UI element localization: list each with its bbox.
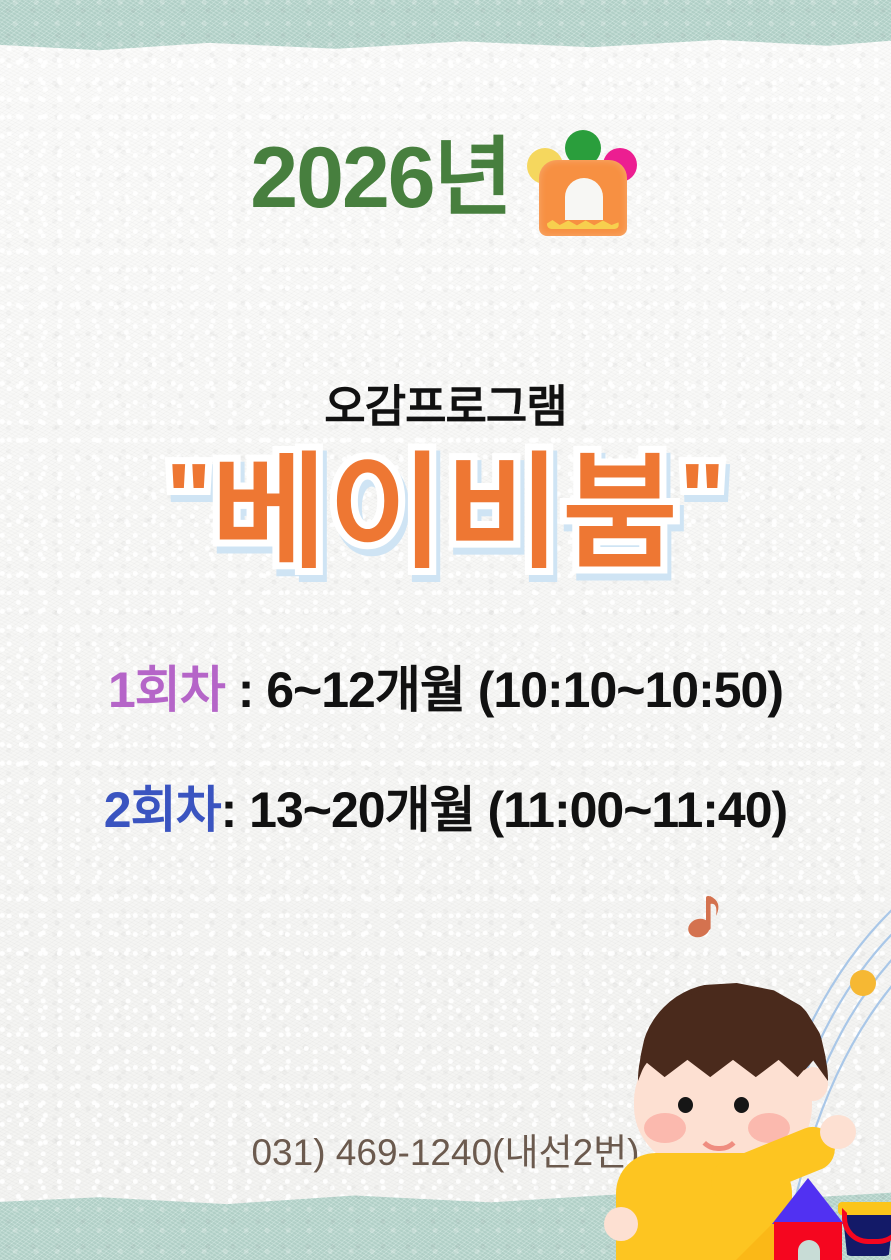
quote-close: "	[680, 444, 726, 551]
toy-blocks-bucket-icon	[742, 1178, 891, 1260]
header-row: 2026년	[0, 120, 891, 236]
year-title: 2026년	[250, 135, 510, 221]
session-2-tag: 2회차	[104, 782, 221, 838]
poster-canvas: 2026년 오감프로그램 "베이비붐" 1회차 : 6~12개월 (10:10~…	[0, 0, 891, 1260]
child-eye-right	[734, 1097, 749, 1113]
hat-arch-cutout	[565, 178, 603, 220]
toy-house-door	[798, 1240, 820, 1260]
session-2-detail: : 13~20개월 (11:00~11:40)	[221, 782, 788, 838]
session-1-tag: 1회차	[108, 662, 225, 718]
music-note-salmon	[686, 896, 719, 940]
child-cheek-left	[644, 1113, 686, 1143]
program-subtitle: 오감프로그램	[0, 370, 891, 435]
program-title-text: 베이비붐	[212, 444, 680, 583]
child-eye-left	[678, 1097, 693, 1113]
program-title: "베이비붐"	[0, 448, 891, 579]
child-hand-left	[604, 1207, 638, 1241]
session-row-1: 1회차 : 6~12개월 (10:10~10:50)	[0, 650, 891, 722]
quote-open: "	[166, 444, 212, 551]
session-1-detail: : 6~12개월 (10:10~10:50)	[225, 662, 783, 718]
child-hand-right	[820, 1115, 856, 1149]
hat-block-icon	[525, 124, 641, 236]
toy-blue-roof	[772, 1178, 844, 1224]
session-row-2: 2회차: 13~20개월 (11:00~11:40)	[0, 770, 891, 842]
